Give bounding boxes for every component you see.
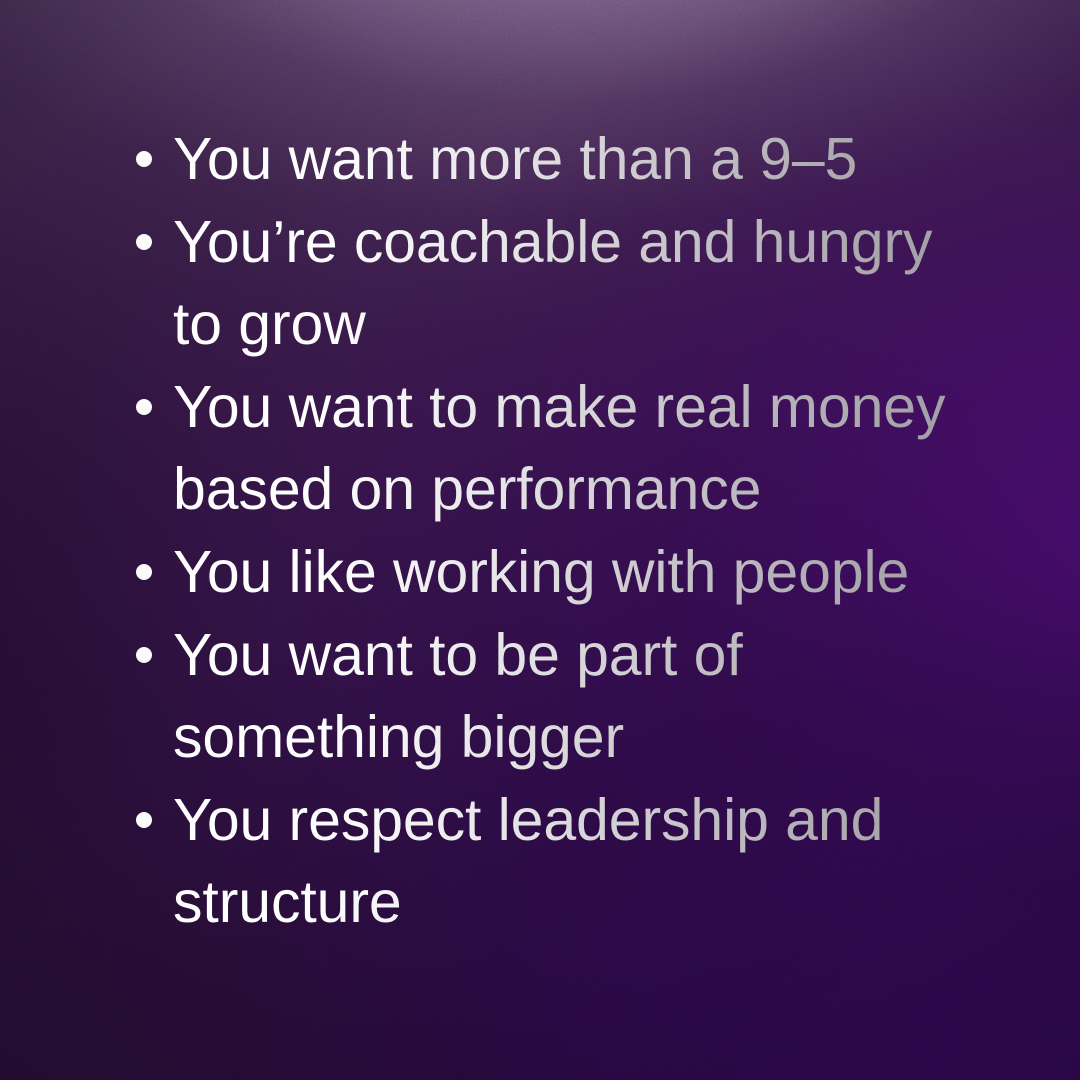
list-item: You want more than a 9–5 [126, 118, 984, 200]
list-item: You want to be part of something bigger [126, 614, 984, 778]
list-item: You respect leadership and structure [126, 779, 984, 943]
bullet-item-text: You respect leadership and structure [173, 787, 883, 935]
list-item: You want to make real money based on per… [126, 366, 984, 530]
slide-canvas: You want more than a 9–5 You’re coachabl… [0, 0, 1080, 1080]
bullet-dot-icon [136, 812, 152, 828]
bullet-dot-icon [136, 564, 152, 580]
bullet-item-text: You like working with people [173, 539, 909, 605]
bullet-dot-icon [136, 399, 152, 415]
bullet-item-text: You want more than a 9–5 [173, 126, 857, 192]
bullet-dot-icon [136, 151, 152, 167]
bullet-item-text: You want to make real money based on per… [173, 374, 945, 522]
bullet-item-text: You’re coachable and hungry to grow [173, 209, 932, 357]
bullet-list: You want more than a 9–5 You’re coachabl… [126, 118, 984, 944]
bullet-dot-icon [136, 234, 152, 250]
list-item: You like working with people [126, 531, 984, 613]
bullet-item-text: You want to be part of something bigger [173, 622, 743, 770]
list-item: You’re coachable and hungry to grow [126, 201, 984, 365]
bullet-dot-icon [136, 647, 152, 663]
